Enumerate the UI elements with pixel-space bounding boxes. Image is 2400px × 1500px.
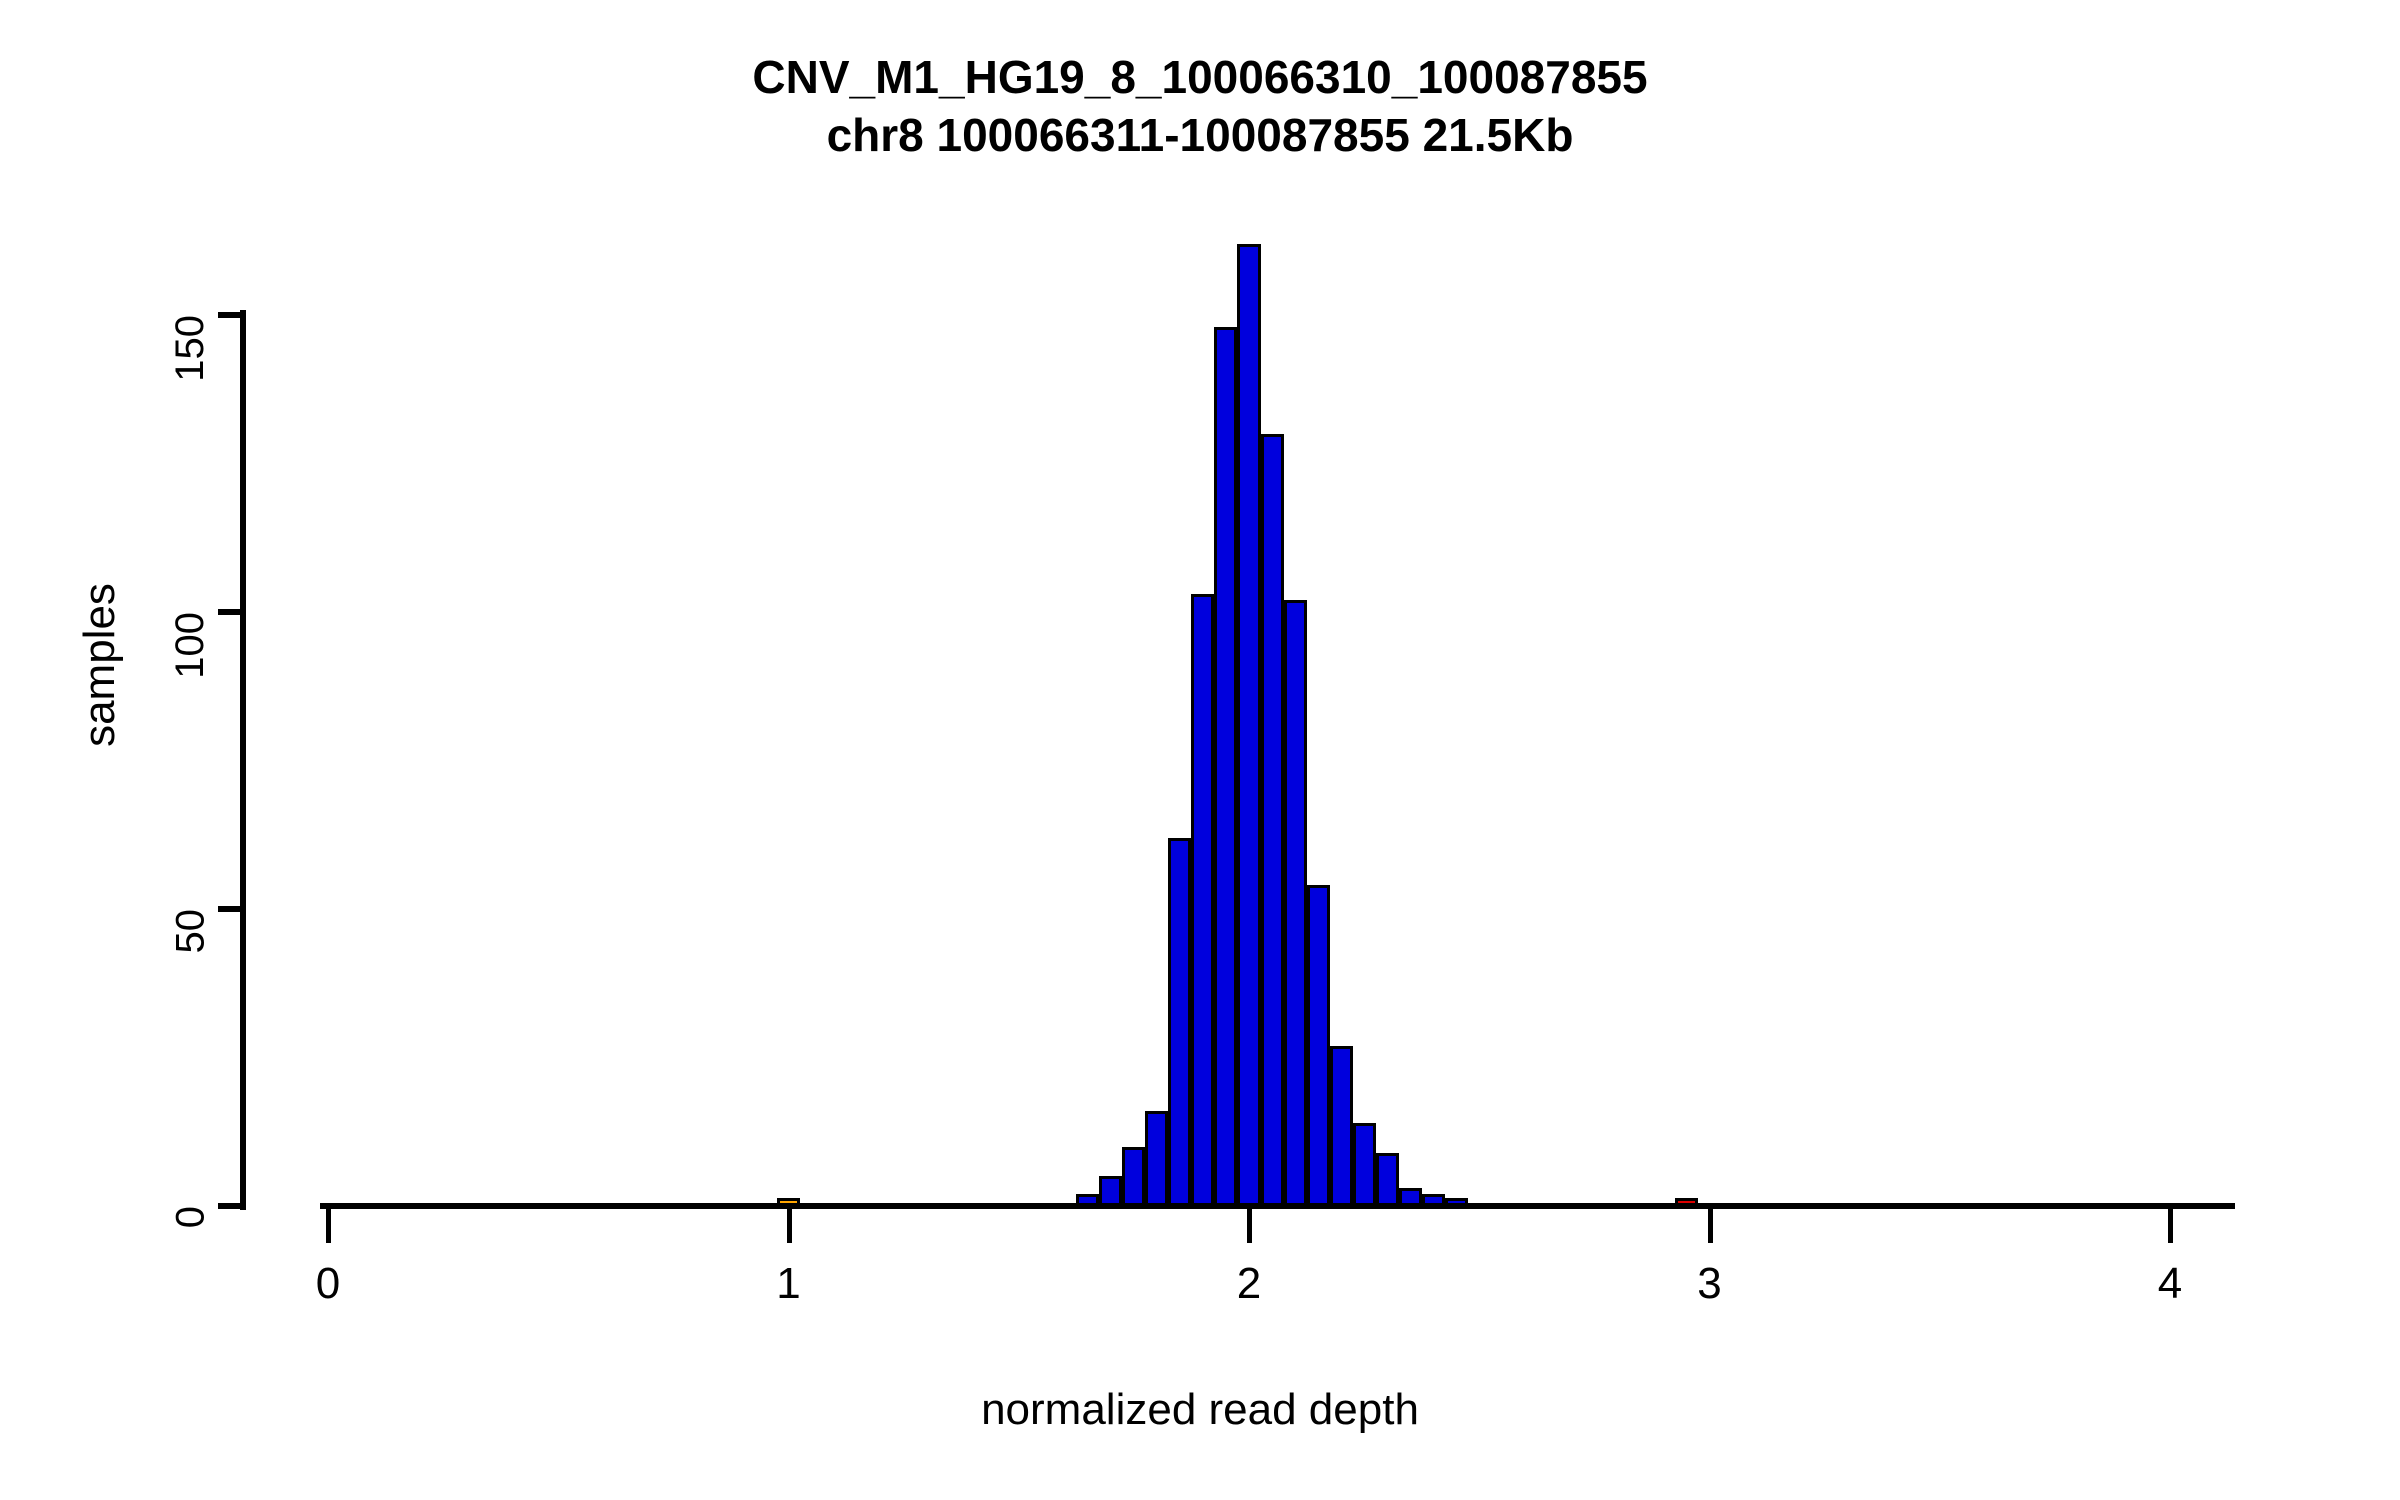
histogram-bar	[1307, 885, 1330, 1206]
histogram-bar	[1284, 600, 1307, 1206]
histogram-bars	[0, 0, 2400, 1500]
plot-area: samples 050100150 01234 normalized read …	[0, 0, 2400, 1500]
histogram-bar	[1122, 1147, 1145, 1206]
histogram-bar	[1076, 1194, 1099, 1206]
histogram-bar	[1145, 1111, 1168, 1206]
histogram-bar	[1445, 1198, 1468, 1206]
histogram-bar	[1168, 838, 1191, 1206]
chart-page: CNV_M1_HG19_8_100066310_100087855 chr8 1…	[0, 0, 2400, 1500]
histogram-bar	[777, 1198, 800, 1206]
histogram-bar	[1675, 1198, 1698, 1206]
histogram-bar	[1237, 244, 1260, 1206]
histogram-bar	[1261, 434, 1284, 1206]
histogram-bar	[1353, 1123, 1376, 1206]
histogram-bar	[1191, 594, 1214, 1206]
x-axis-title: normalized read depth	[0, 1385, 2400, 1435]
histogram-bar	[1330, 1046, 1353, 1206]
histogram-bar	[1399, 1188, 1422, 1206]
histogram-bar	[1422, 1194, 1445, 1206]
histogram-bar	[1214, 327, 1237, 1206]
histogram-bar	[1376, 1153, 1399, 1206]
histogram-bar	[1099, 1176, 1122, 1206]
